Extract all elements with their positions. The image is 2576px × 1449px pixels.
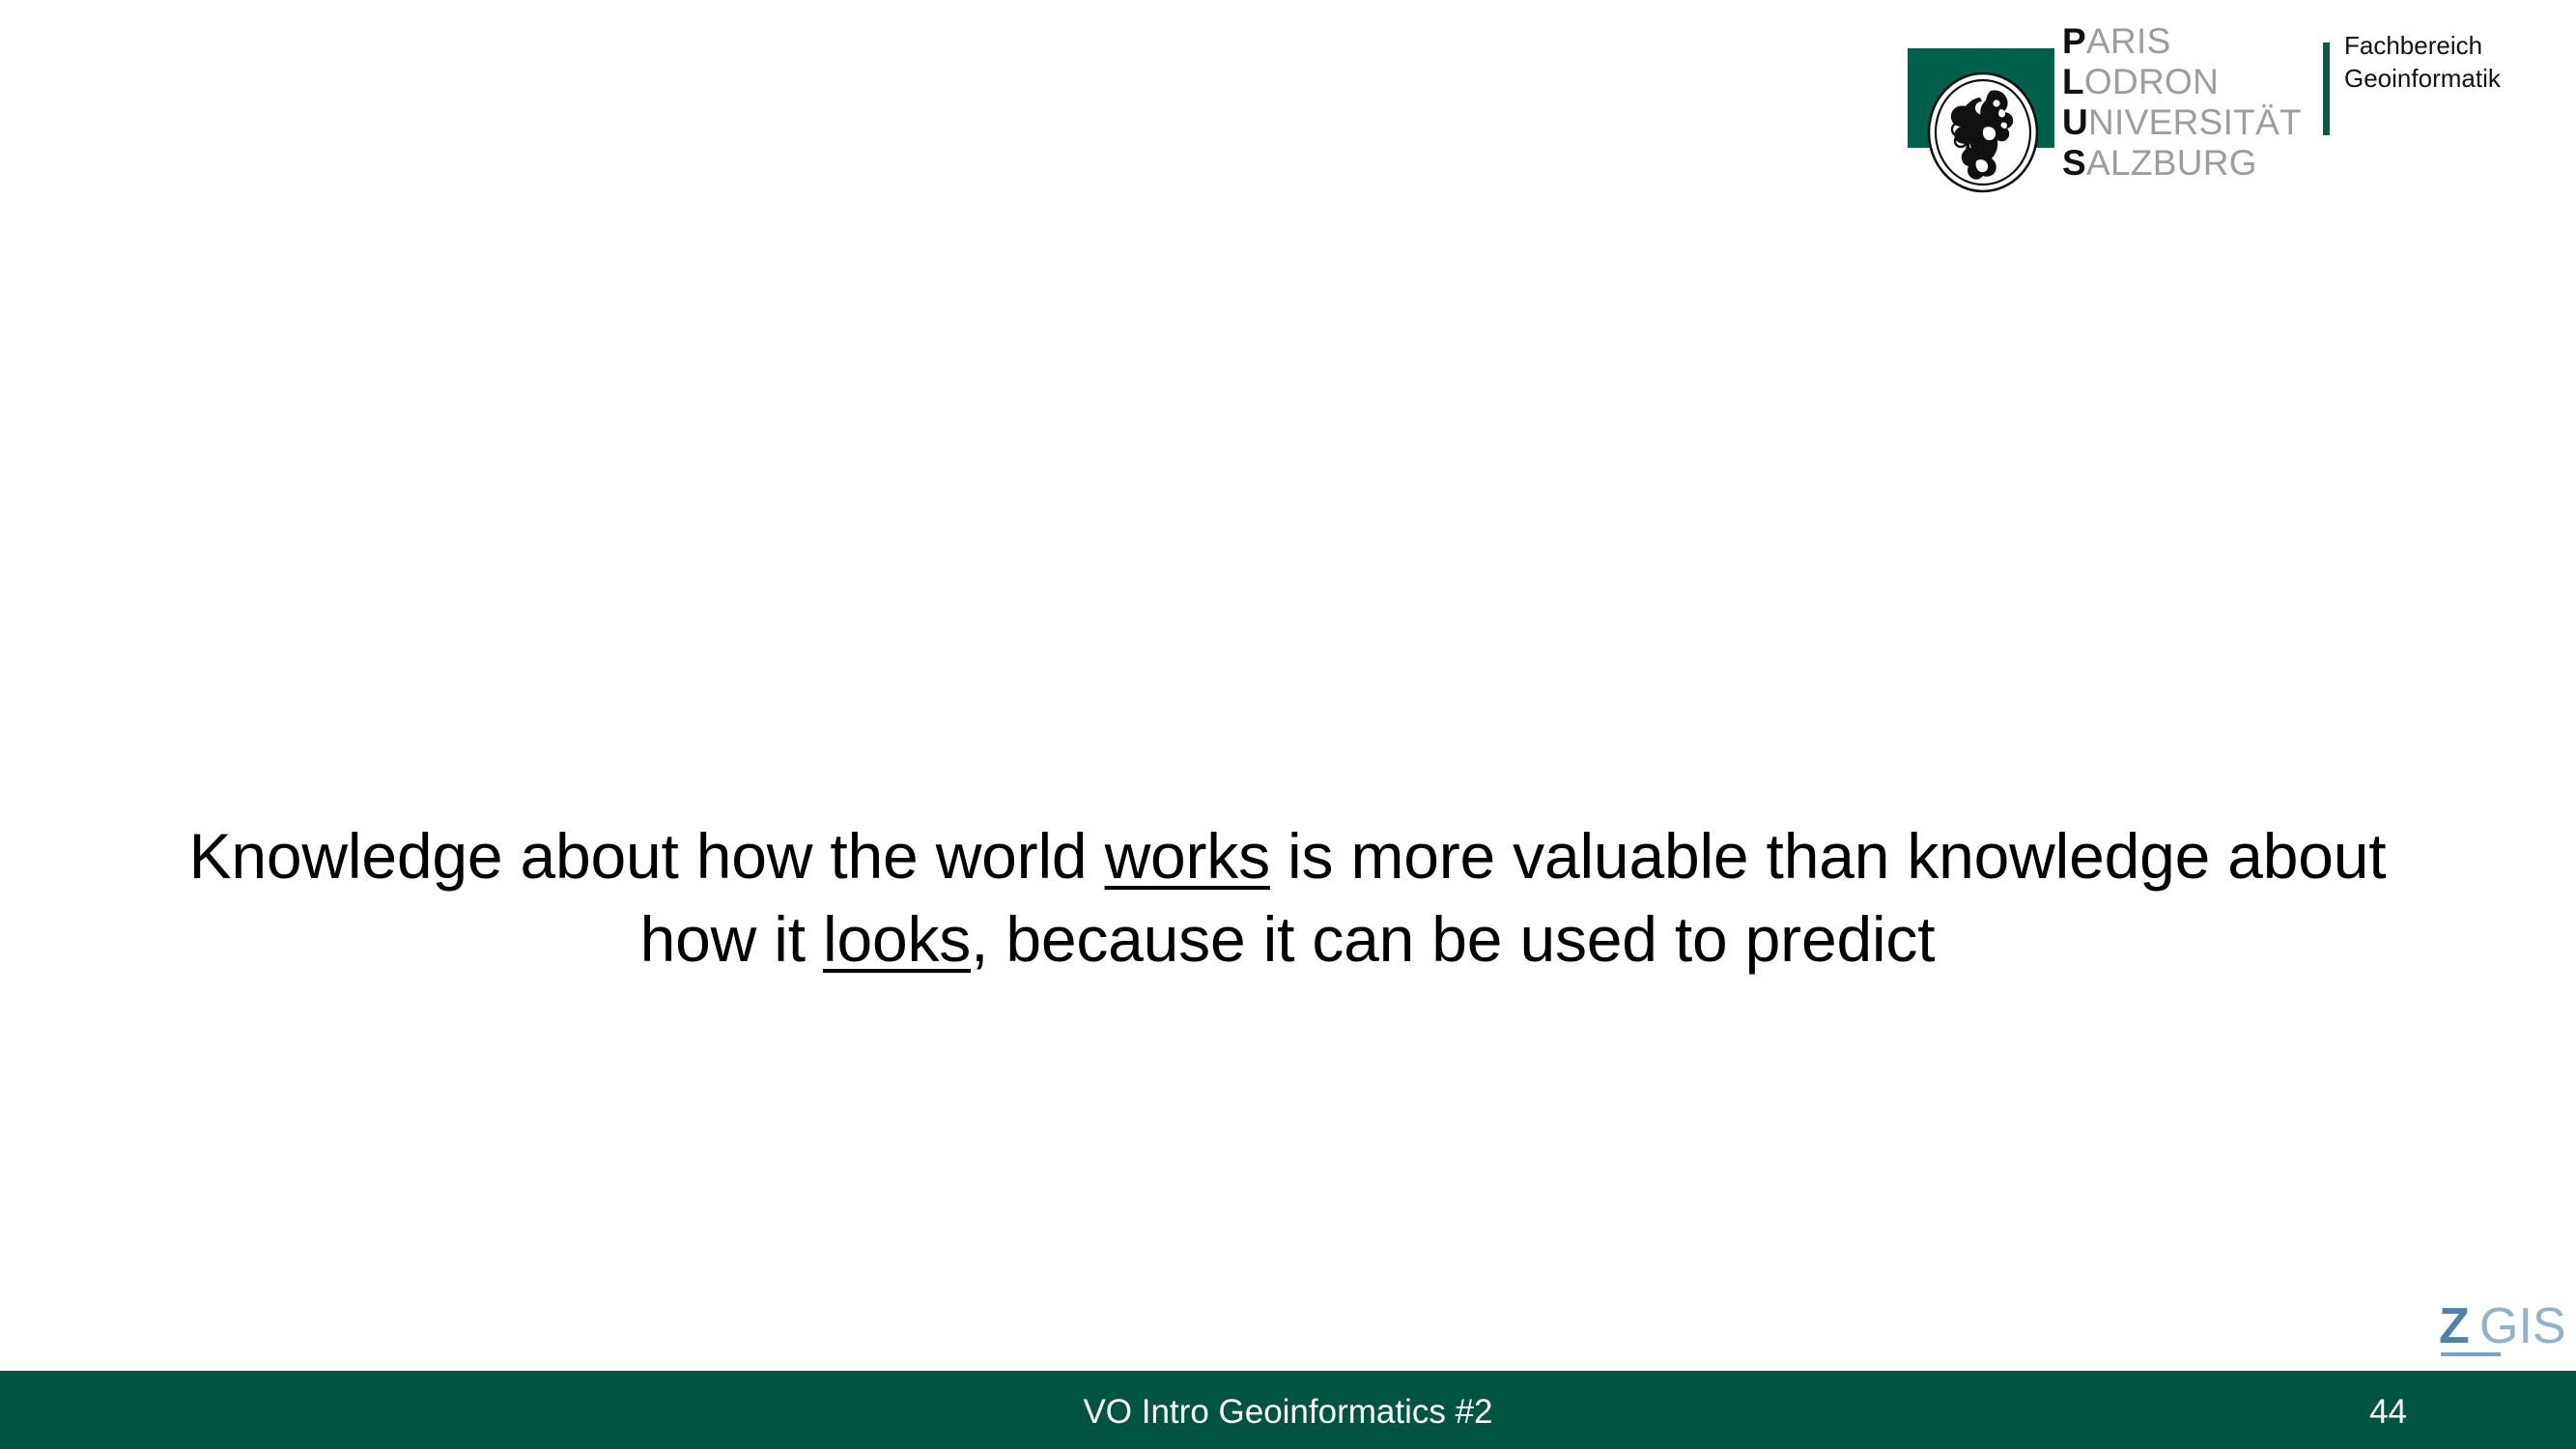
logo-rest-alzburg: ALZBURG [2086,143,2257,183]
quote-underlined-looks: looks [823,903,971,975]
footer-page-number: 44 [2369,1393,2407,1432]
plus-logo-mark [1908,48,2054,169]
slide-quote-text: Knowledge about how the world works is m… [128,814,2447,980]
logo-rest-niversitaet: NIVERSITÄT [2088,102,2302,142]
zgis-z-letter: Z [2439,1301,2470,1351]
logo-rest-aris: ARIS [2086,21,2171,61]
department-line-2: Geoinformatik [2344,62,2566,95]
zgis-gis-letters: GIS [2479,1301,2566,1351]
lion-crest-icon [1927,71,2039,193]
logo-line-universitaet: UNIVERSITÄT [2062,102,2304,143]
logo-line-salzburg: SALZBURG [2062,143,2304,184]
quote-segment-1: Knowledge about how the world [189,820,1105,892]
logo-line-lodron: LODRON [2062,62,2304,102]
footer-bar: VO Intro Geoinformatics #2 44 [0,1371,2576,1449]
logo-rest-odron: ODRON [2084,62,2219,101]
zgis-underline [2441,1352,2501,1356]
university-logo: PARIS LODRON UNIVERSITÄT SALZBURG Fachbe… [1908,21,2333,224]
logo-cap-s: S [2062,143,2086,183]
logo-cap-l: L [2062,62,2084,101]
plus-logo-wordmark: PARIS LODRON UNIVERSITÄT SALZBURG [2062,21,2304,184]
slide-canvas: PARIS LODRON UNIVERSITÄT SALZBURG Fachbe… [0,0,2576,1449]
logo-cap-p: P [2062,21,2086,61]
department-line-1: Fachbereich [2344,29,2566,62]
quote-segment-3: , because it can be used to predict [971,903,1935,975]
zgis-logo: Z GIS [2439,1301,2560,1361]
department-label: Fachbereich Geoinformatik [2344,29,2566,95]
footer-title: VO Intro Geoinformatics #2 [0,1393,2576,1432]
logo-divider [2323,43,2330,135]
logo-line-paris: PARIS [2062,21,2304,62]
quote-underlined-works: works [1105,820,1270,892]
logo-cap-u: U [2062,102,2088,142]
